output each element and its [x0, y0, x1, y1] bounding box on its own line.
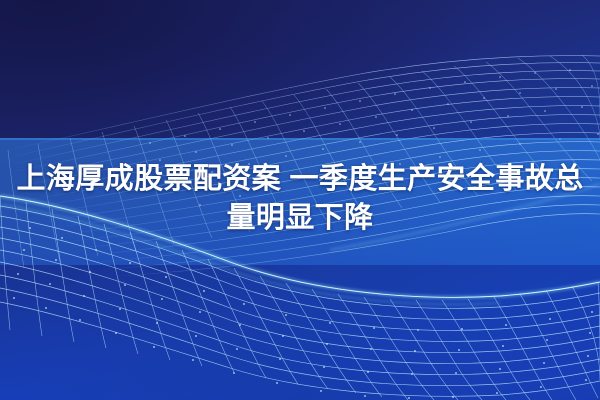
- headline-band-top-edge: [0, 138, 600, 140]
- page-title: 上海厚成股票配资案 一季度生产安全事故总量明显下降: [0, 160, 600, 238]
- banner-image: 上海厚成股票配资案 一季度生产安全事故总量明显下降: [0, 0, 600, 400]
